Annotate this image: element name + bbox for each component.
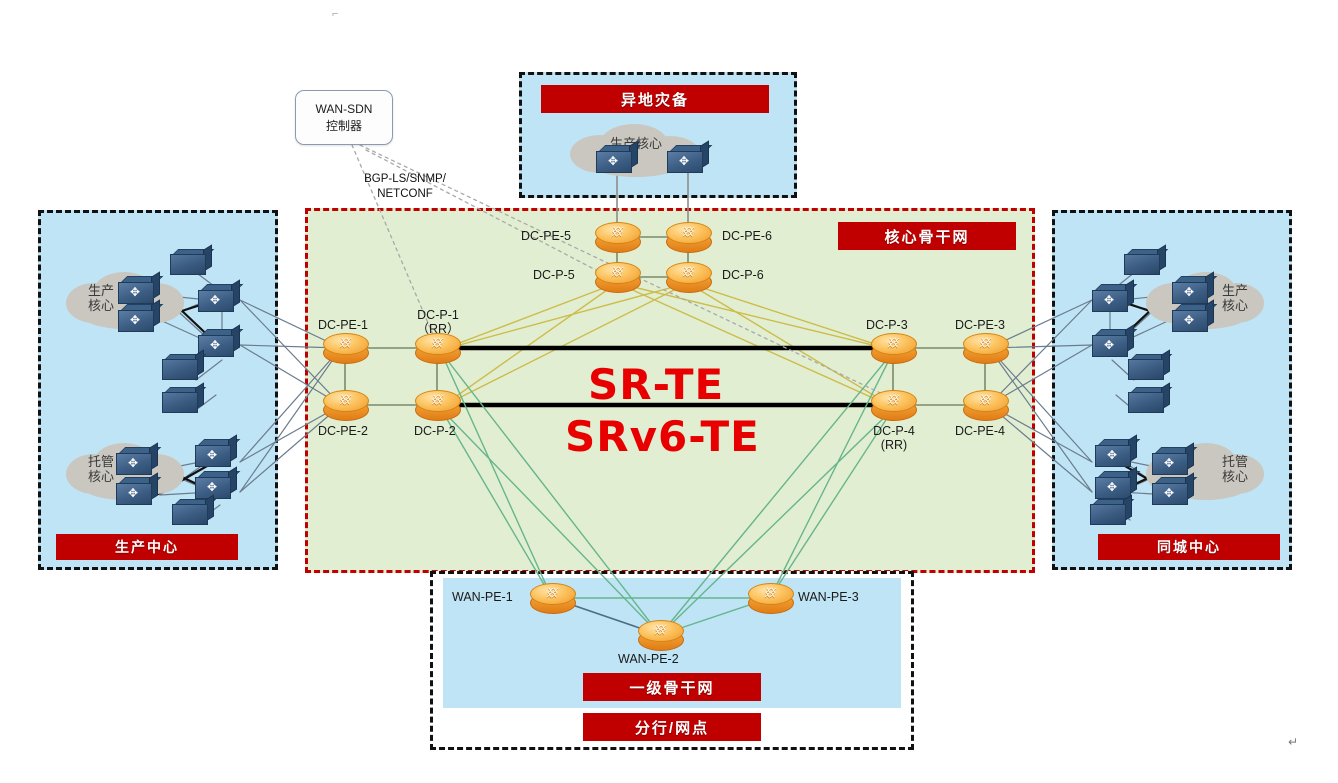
firewall-icon [1128, 388, 1168, 412]
firewall-icon [170, 250, 210, 274]
controller-title: WAN-SDN [316, 101, 373, 117]
diagram-canvas: 生产核心 生产 核心 托管 核心 [0, 0, 1338, 783]
banner-branch-site: 分行/网点 [583, 713, 761, 741]
wan-sdn-controller[interactable]: WAN-SDN 控制器 [295, 90, 393, 145]
router-glyph-icon: ᛝᛝ [528, 585, 575, 601]
label-dc-p-1-rr: （RR） [404, 322, 472, 336]
router-glyph-icon: ᛝᛝ [413, 335, 460, 351]
router-dc-p-1[interactable]: ᛝᛝ [415, 333, 459, 363]
label-dc-p-4-rr: (RR) [860, 438, 928, 452]
switch-icon: ✥ [116, 478, 156, 504]
switch-icon: ✥ [195, 440, 235, 466]
switch-icon: ✥ [1095, 472, 1135, 498]
firewall-icon [162, 388, 202, 412]
controller-protocol-label: BGP-LS/SNMP/ NETCONF [340, 172, 470, 202]
banner-remote-dr: 异地灾备 [541, 85, 769, 113]
label-wan-pe-1: WAN-PE-1 [452, 590, 513, 604]
switch-icon: ✥ [596, 146, 636, 172]
router-glyph-icon: ᛝᛝ [664, 224, 711, 240]
switch-icon: ✥ [118, 305, 158, 331]
router-glyph-icon: ᛝᛝ [664, 264, 711, 280]
switch-icon: ✥ [195, 472, 235, 498]
router-dc-pe-3[interactable]: ᛝᛝ [963, 333, 1007, 363]
switch-icon: ✥ [1152, 478, 1192, 504]
label-dc-pe-3: DC-PE-3 [955, 318, 1005, 332]
label-dc-pe-2: DC-PE-2 [318, 424, 368, 438]
switch-icon: ✥ [118, 277, 158, 303]
switch-icon: ✥ [198, 330, 238, 356]
label-dc-pe-4: DC-PE-4 [955, 424, 1005, 438]
banner-production-center: 生产中心 [56, 534, 238, 560]
controller-subtitle: 控制器 [326, 118, 362, 134]
region-metro-center [1052, 210, 1292, 570]
router-dc-pe-5[interactable]: ᛝᛝ [595, 222, 639, 252]
router-dc-p-2[interactable]: ᛝᛝ [415, 390, 459, 420]
label-dc-p-4-name: DC-P-4 [860, 424, 928, 438]
cloud-label-line1: 托管 [1222, 455, 1248, 470]
controller-protocol-line2: NETCONF [340, 187, 470, 202]
router-glyph-icon: ᛝᛝ [746, 585, 793, 601]
cloud-label-line2: 核心 [1222, 470, 1248, 485]
router-glyph-icon: ᛝᛝ [413, 392, 460, 408]
cloud-label-line1: 生产 [1222, 284, 1248, 299]
label-srv6-te: SRv6-TE [565, 412, 760, 461]
router-glyph-icon: ᛝᛝ [593, 264, 640, 280]
switch-icon: ✥ [667, 146, 707, 172]
banner-metro-center: 同城中心 [1098, 534, 1280, 560]
region-production-center [38, 210, 278, 570]
cloud-label-line2: 核心 [88, 299, 114, 314]
router-dc-pe-1[interactable]: ᛝᛝ [323, 333, 367, 363]
router-glyph-icon: ᛝᛝ [869, 335, 916, 351]
label-dc-p-5: DC-P-5 [533, 268, 575, 282]
switch-icon: ✥ [1172, 305, 1212, 331]
label-dc-pe-6: DC-PE-6 [722, 229, 772, 243]
router-glyph-icon: ᛝᛝ [593, 224, 640, 240]
router-glyph-icon: ᛝᛝ [321, 392, 368, 408]
cloud-label-line1: 托管 [88, 455, 114, 470]
firewall-icon [1090, 500, 1130, 524]
label-wan-pe-3: WAN-PE-3 [798, 590, 859, 604]
router-dc-pe-2[interactable]: ᛝᛝ [323, 390, 367, 420]
switch-icon: ✥ [198, 285, 238, 311]
label-sr-te: SR-TE [588, 360, 724, 409]
router-glyph-icon: ᛝᛝ [961, 335, 1008, 351]
banner-level1-backbone: 一级骨干网 [583, 673, 761, 701]
cloud-label-line1: 生产 [88, 284, 114, 299]
router-dc-p-5[interactable]: ᛝᛝ [595, 262, 639, 292]
switch-icon: ✥ [116, 448, 156, 474]
label-dc-pe-1: DC-PE-1 [318, 318, 368, 332]
router-dc-pe-4[interactable]: ᛝᛝ [963, 390, 1007, 420]
label-dc-p-6: DC-P-6 [722, 268, 764, 282]
label-dc-p-1-name: DC-P-1 [404, 308, 472, 322]
switch-icon: ✥ [1092, 285, 1132, 311]
router-glyph-icon: ᛝᛝ [961, 392, 1008, 408]
router-glyph-icon: ᛝᛝ [321, 335, 368, 351]
label-dc-p-4: DC-P-4 (RR) [860, 424, 928, 453]
label-dc-pe-5: DC-PE-5 [521, 229, 571, 243]
router-wan-pe-2[interactable]: ᛝᛝ [638, 620, 682, 650]
paragraph-mark: ↵ [1288, 735, 1298, 749]
router-glyph-icon: ᛝᛝ [636, 622, 683, 638]
router-glyph-icon: ᛝᛝ [869, 392, 916, 408]
router-wan-pe-1[interactable]: ᛝᛝ [530, 583, 574, 613]
top-artifact-mark: ⌐ [332, 8, 338, 20]
switch-arrows-icon: ✥ [670, 153, 698, 169]
router-wan-pe-3[interactable]: ᛝᛝ [748, 583, 792, 613]
label-dc-p-1: DC-P-1 （RR） [404, 308, 472, 337]
router-dc-p-4[interactable]: ᛝᛝ [871, 390, 915, 420]
switch-arrows-icon: ✥ [599, 153, 627, 169]
label-wan-pe-2: WAN-PE-2 [618, 652, 679, 666]
switch-icon: ✥ [1152, 448, 1192, 474]
label-dc-p-3: DC-P-3 [866, 318, 908, 332]
firewall-icon [162, 355, 202, 379]
banner-core-backbone: 核心骨干网 [838, 222, 1016, 250]
controller-protocol-line1: BGP-LS/SNMP/ [340, 172, 470, 187]
router-dc-p-3[interactable]: ᛝᛝ [871, 333, 915, 363]
switch-icon: ✥ [1095, 440, 1135, 466]
router-dc-p-6[interactable]: ᛝᛝ [666, 262, 710, 292]
cloud-label-line2: 核心 [88, 470, 114, 485]
cloud-label-line2: 核心 [1222, 299, 1248, 314]
firewall-icon [172, 500, 212, 524]
switch-icon: ✥ [1172, 277, 1212, 303]
router-dc-pe-6[interactable]: ᛝᛝ [666, 222, 710, 252]
firewall-icon [1124, 250, 1164, 274]
switch-icon: ✥ [1092, 330, 1132, 356]
label-dc-p-2: DC-P-2 [414, 424, 456, 438]
firewall-icon [1128, 355, 1168, 379]
